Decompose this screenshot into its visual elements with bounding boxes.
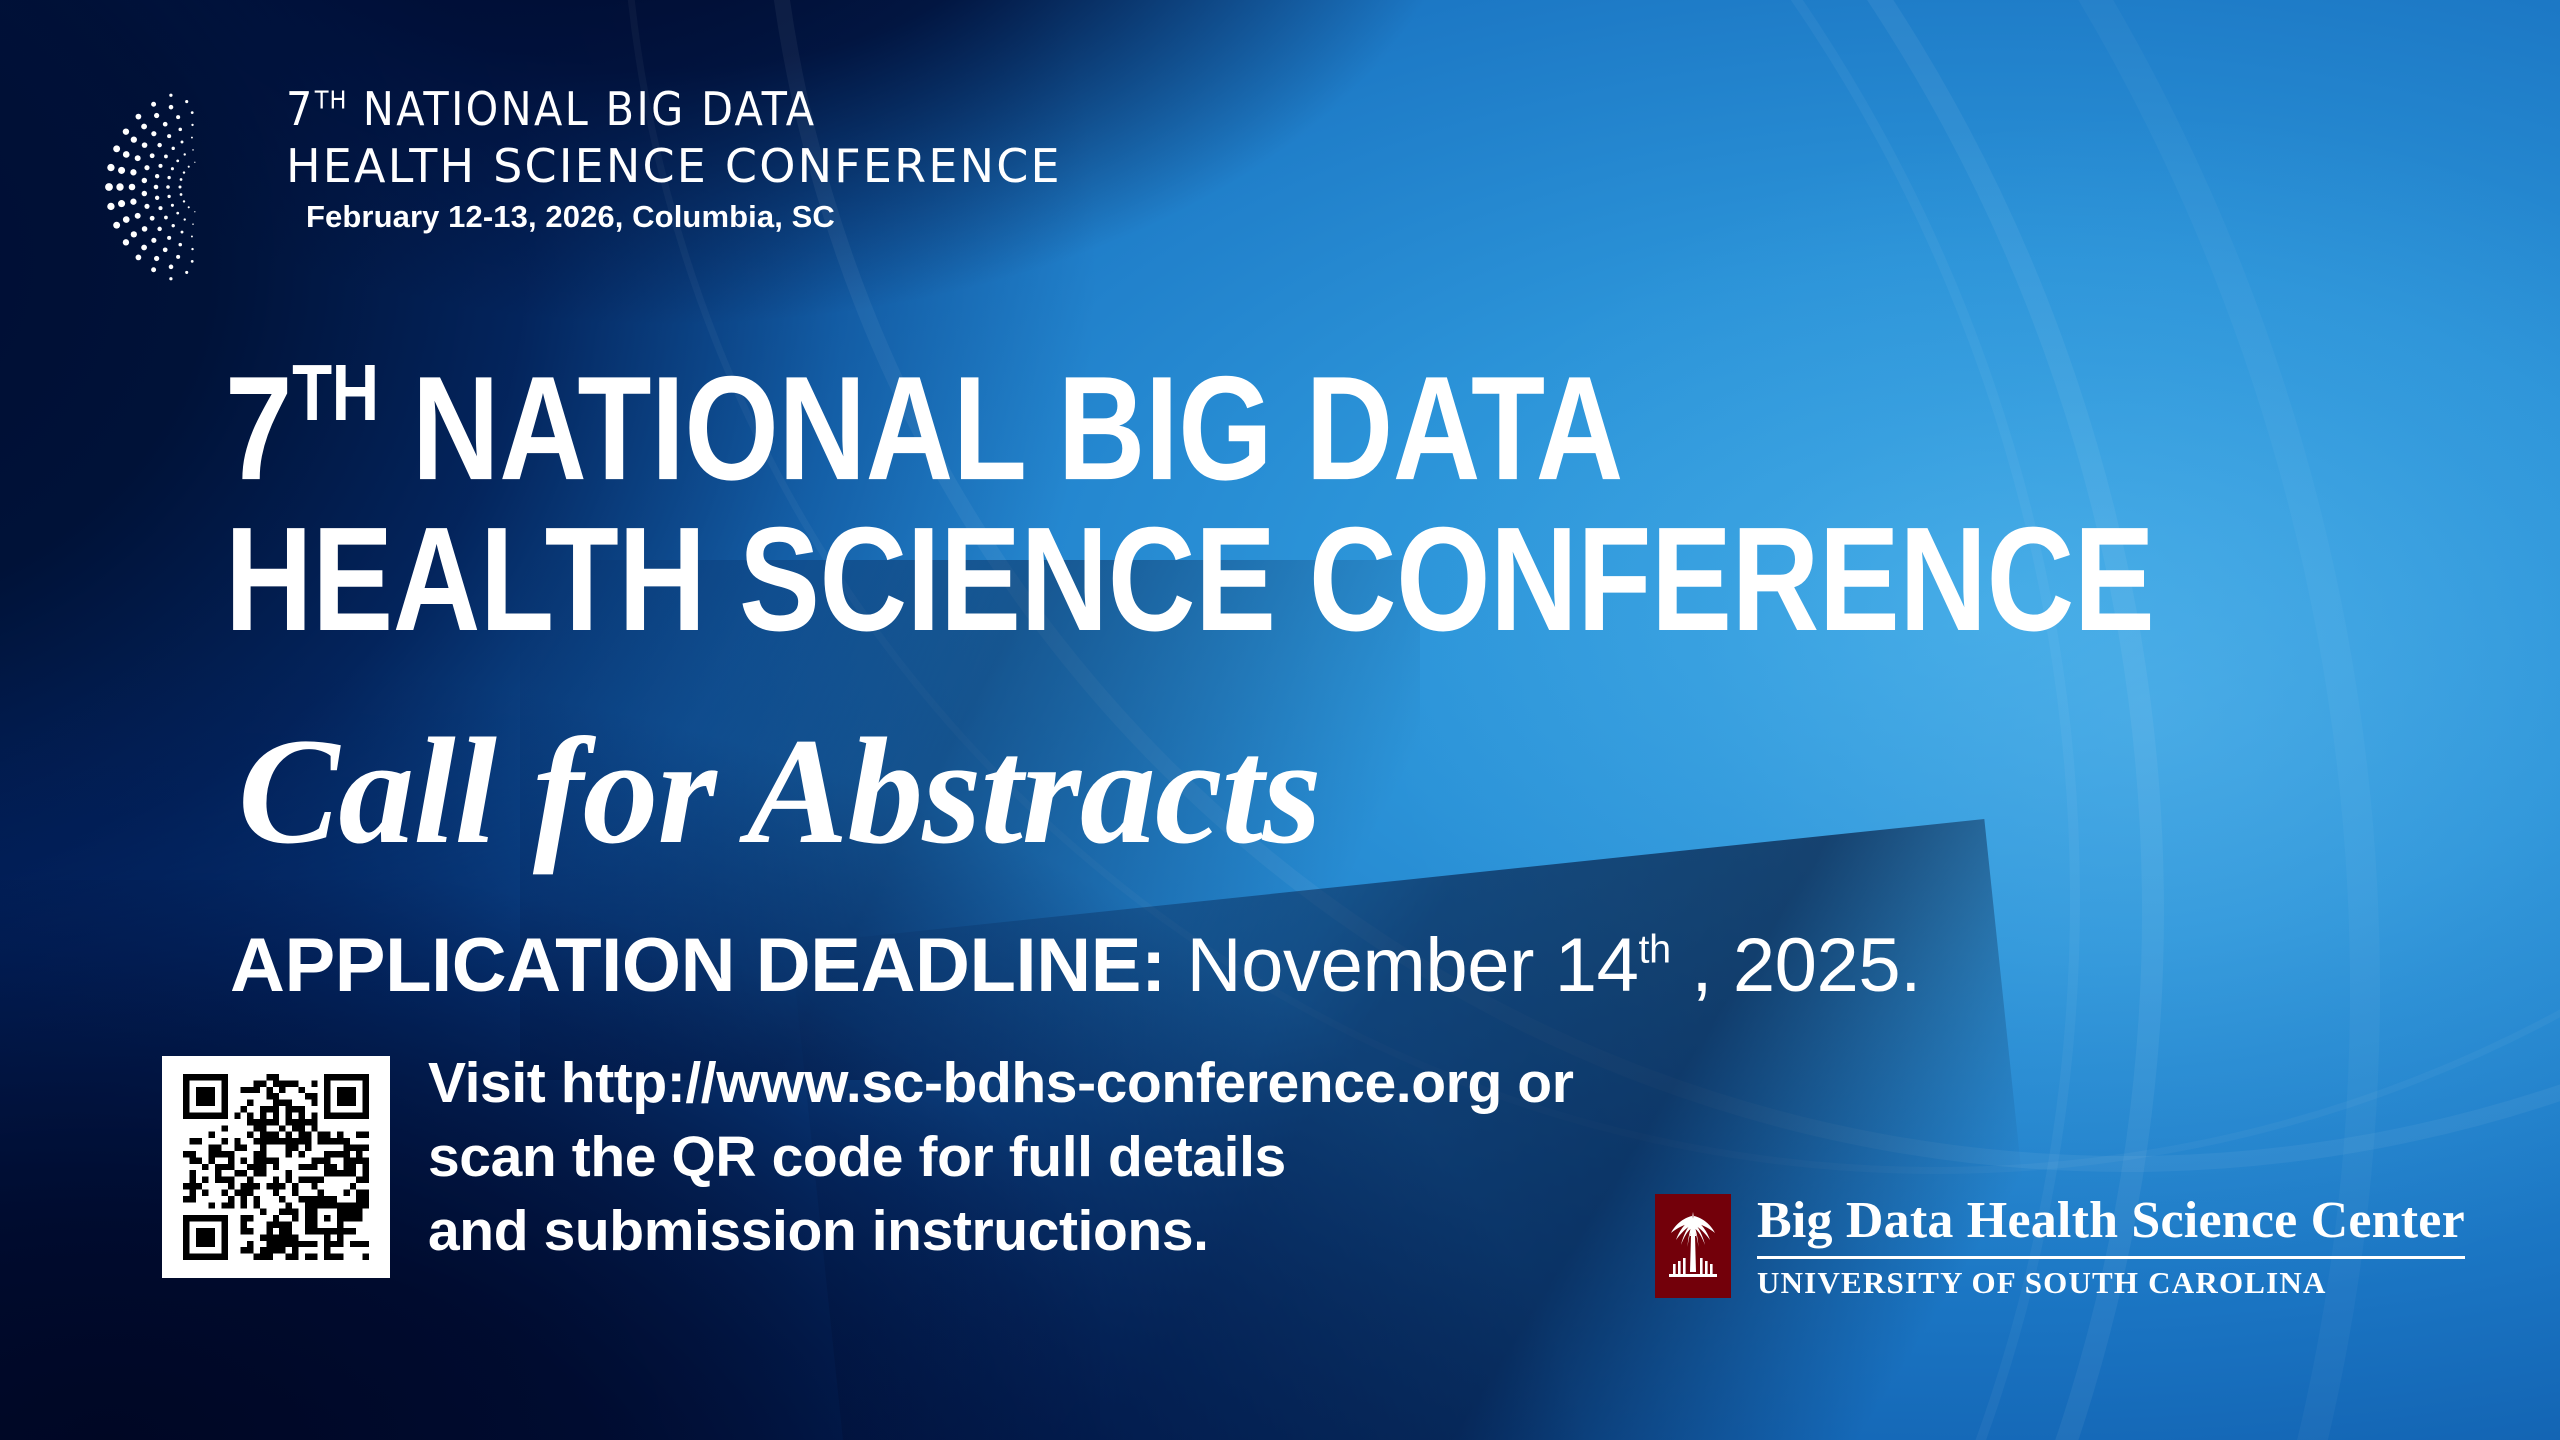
usc-big-data-health-science-center-logo: Big Data Health Science Center UNIVERSIT…: [1655, 1192, 2475, 1300]
deadline-year: , 2025.: [1671, 923, 1921, 1008]
headline-line-1-rest: NATIONAL BIG DATA: [379, 346, 1623, 511]
headline-line-2: HEALTH SCIENCE CONFERENCE: [225, 510, 1914, 651]
headline-ordinal: TH: [292, 348, 379, 437]
deadline-date: November 14: [1166, 923, 1639, 1008]
palmetto-tree-icon: [1663, 1202, 1723, 1290]
headline-number: 7: [225, 346, 292, 511]
headline-line-1: 7TH NATIONAL BIG DATA: [225, 355, 1914, 500]
logo-line-1: 7TH NATIONAL BIG DATA: [286, 86, 1026, 132]
conference-dot-spiral-mark: [100, 92, 280, 282]
deadline-label: APPLICATION DEADLINE:: [230, 923, 1166, 1008]
instructions-text: Visit http://www.sc-bdhs-conference.org …: [428, 1046, 1688, 1268]
qr-code-image[interactable]: [183, 1074, 369, 1260]
deadline-ordinal: th: [1639, 928, 1671, 972]
logo-line-2: HEALTH SCIENCE CONFERENCE: [286, 143, 1026, 189]
usc-university-name: UNIVERSITY OF SOUTH CAROLINA: [1757, 1267, 2465, 1298]
call-for-abstracts-title: Call for Abstracts: [238, 715, 1321, 867]
conference-call-for-abstracts-poster: 7TH NATIONAL BIG DATA HEALTH SCIENCE CON…: [0, 0, 2560, 1440]
instructions-line-1[interactable]: Visit http://www.sc-bdhs-conference.org …: [428, 1046, 1688, 1120]
instructions-line-3: and submission instructions.: [428, 1194, 1688, 1268]
qr-code-panel[interactable]: [162, 1056, 390, 1278]
logo-line-1-number: 7: [286, 82, 315, 136]
logo-line-1-ordinal: TH: [315, 86, 348, 115]
conference-logo-lockup: 7TH NATIONAL BIG DATA HEALTH SCIENCE CON…: [100, 88, 1020, 288]
usc-divider-rule: [1757, 1256, 2465, 1259]
usc-center-name: Big Data Health Science Center: [1757, 1195, 2465, 1247]
logo-text-group: 7TH NATIONAL BIG DATA HEALTH SCIENCE CON…: [286, 86, 1026, 232]
palmetto-tree-crescent-shield: [1655, 1194, 1731, 1298]
logo-line-3-dates: February 12-13, 2026, Columbia, SC: [306, 201, 1026, 232]
main-headline: 7TH NATIONAL BIG DATA HEALTH SCIENCE CON…: [225, 355, 2285, 650]
application-deadline: APPLICATION DEADLINE: November 14th , 20…: [230, 928, 1921, 1004]
logo-line-1-rest: NATIONAL BIG DATA: [347, 82, 816, 136]
usc-logo-wordmark: Big Data Health Science Center UNIVERSIT…: [1757, 1195, 2465, 1298]
instructions-line-2: scan the QR code for full details: [428, 1120, 1688, 1194]
